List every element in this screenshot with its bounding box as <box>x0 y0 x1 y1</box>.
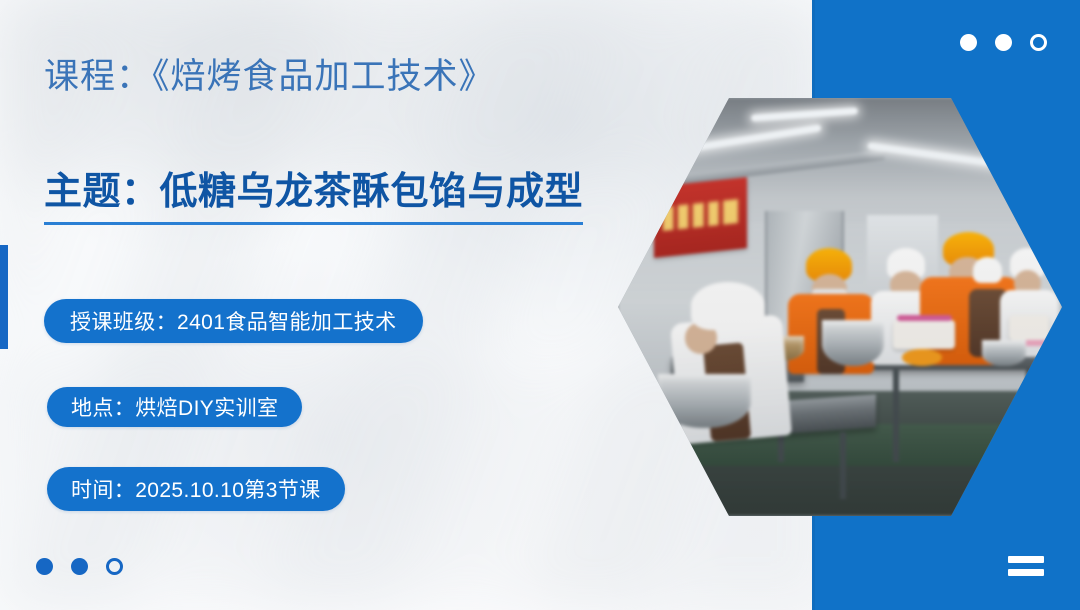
photo-mixing-bowl <box>982 340 1026 365</box>
info-pill-location: 地点：烘焙DIY实训室 <box>47 387 302 427</box>
dot-filled-icon <box>995 34 1012 51</box>
equals-bar-top <box>1008 556 1044 563</box>
dot-outline-icon <box>106 558 123 575</box>
dot-filled-icon <box>71 558 88 575</box>
dot-outline-icon <box>1030 34 1047 51</box>
info-pill-class: 授课班级：2401食品智能加工技术 <box>44 299 423 343</box>
photo-mixing-bowl <box>822 320 884 366</box>
equals-bar-bottom <box>1008 569 1044 576</box>
photo-white-cap <box>691 282 766 330</box>
topic-title: 主题：低糖乌龙茶酥包馅与成型 <box>44 160 583 225</box>
dot-filled-icon <box>960 34 977 51</box>
photo-table-leg <box>893 370 899 462</box>
photo-decorated-cake <box>893 320 955 349</box>
equals-icon <box>1008 556 1044 576</box>
photo-white-cap <box>973 257 1002 283</box>
photo-table-leg <box>840 432 846 499</box>
decor-dots-top <box>960 34 1047 51</box>
photo-decorated-cake <box>1009 315 1049 340</box>
photo-cake-stand <box>902 349 942 366</box>
info-pill-time: 时间：2025.10.10第3节课 <box>47 467 345 511</box>
dot-filled-icon <box>36 558 53 575</box>
course-title: 课程：《焙烤食品加工技术》 <box>44 48 495 99</box>
presentation-slide: 课程：《焙烤食品加工技术》 主题：低糖乌龙茶酥包馅与成型 授课班级：2401食品… <box>0 0 1080 610</box>
decor-dots-bottom <box>36 558 123 575</box>
left-accent-bar <box>0 245 8 349</box>
